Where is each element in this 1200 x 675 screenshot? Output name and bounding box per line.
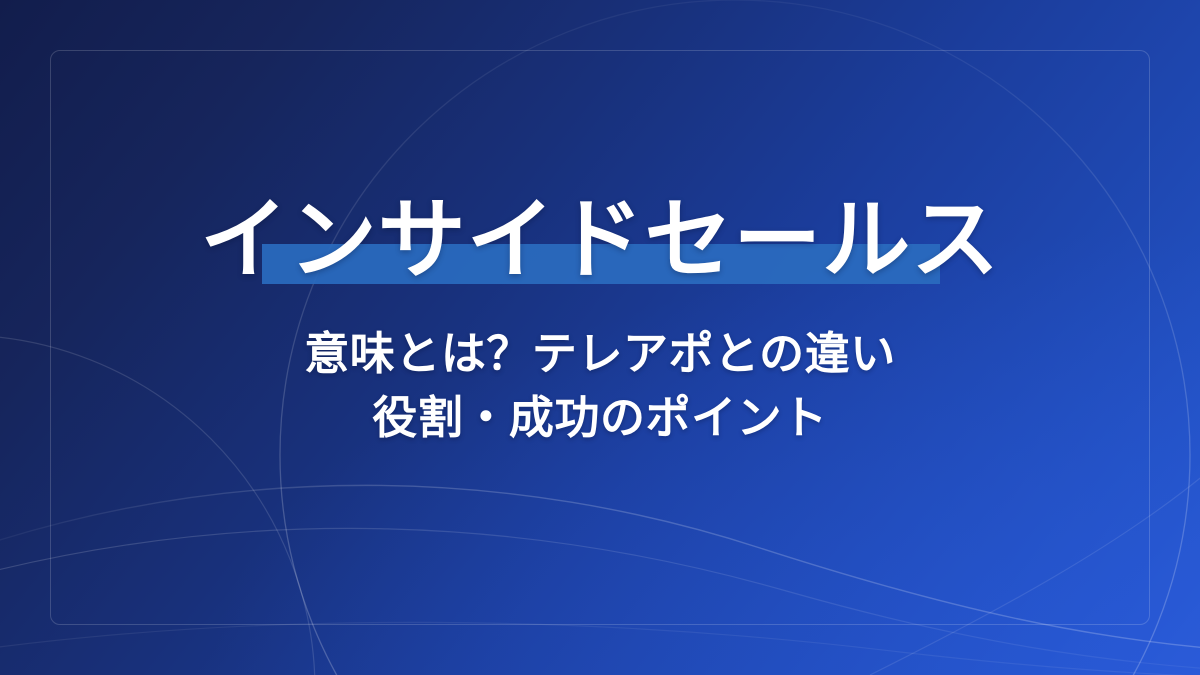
page-title: インサイドセールス: [200, 196, 1000, 284]
title-inner: インサイドセールス: [200, 196, 1000, 284]
subtitle-block: 意味とは？テレアポとの違い 役割・成功のポイント: [0, 322, 1200, 450]
subtitle-line-1: 意味とは？テレアポとの違い: [0, 322, 1200, 386]
title-block: インサイドセールス: [0, 196, 1200, 284]
subtitle-line-2: 役割・成功のポイント: [0, 386, 1200, 450]
title-slide: インサイドセールス 意味とは？テレアポとの違い 役割・成功のポイント: [0, 0, 1200, 675]
slide-content: インサイドセールス 意味とは？テレアポとの違い 役割・成功のポイント: [0, 0, 1200, 675]
